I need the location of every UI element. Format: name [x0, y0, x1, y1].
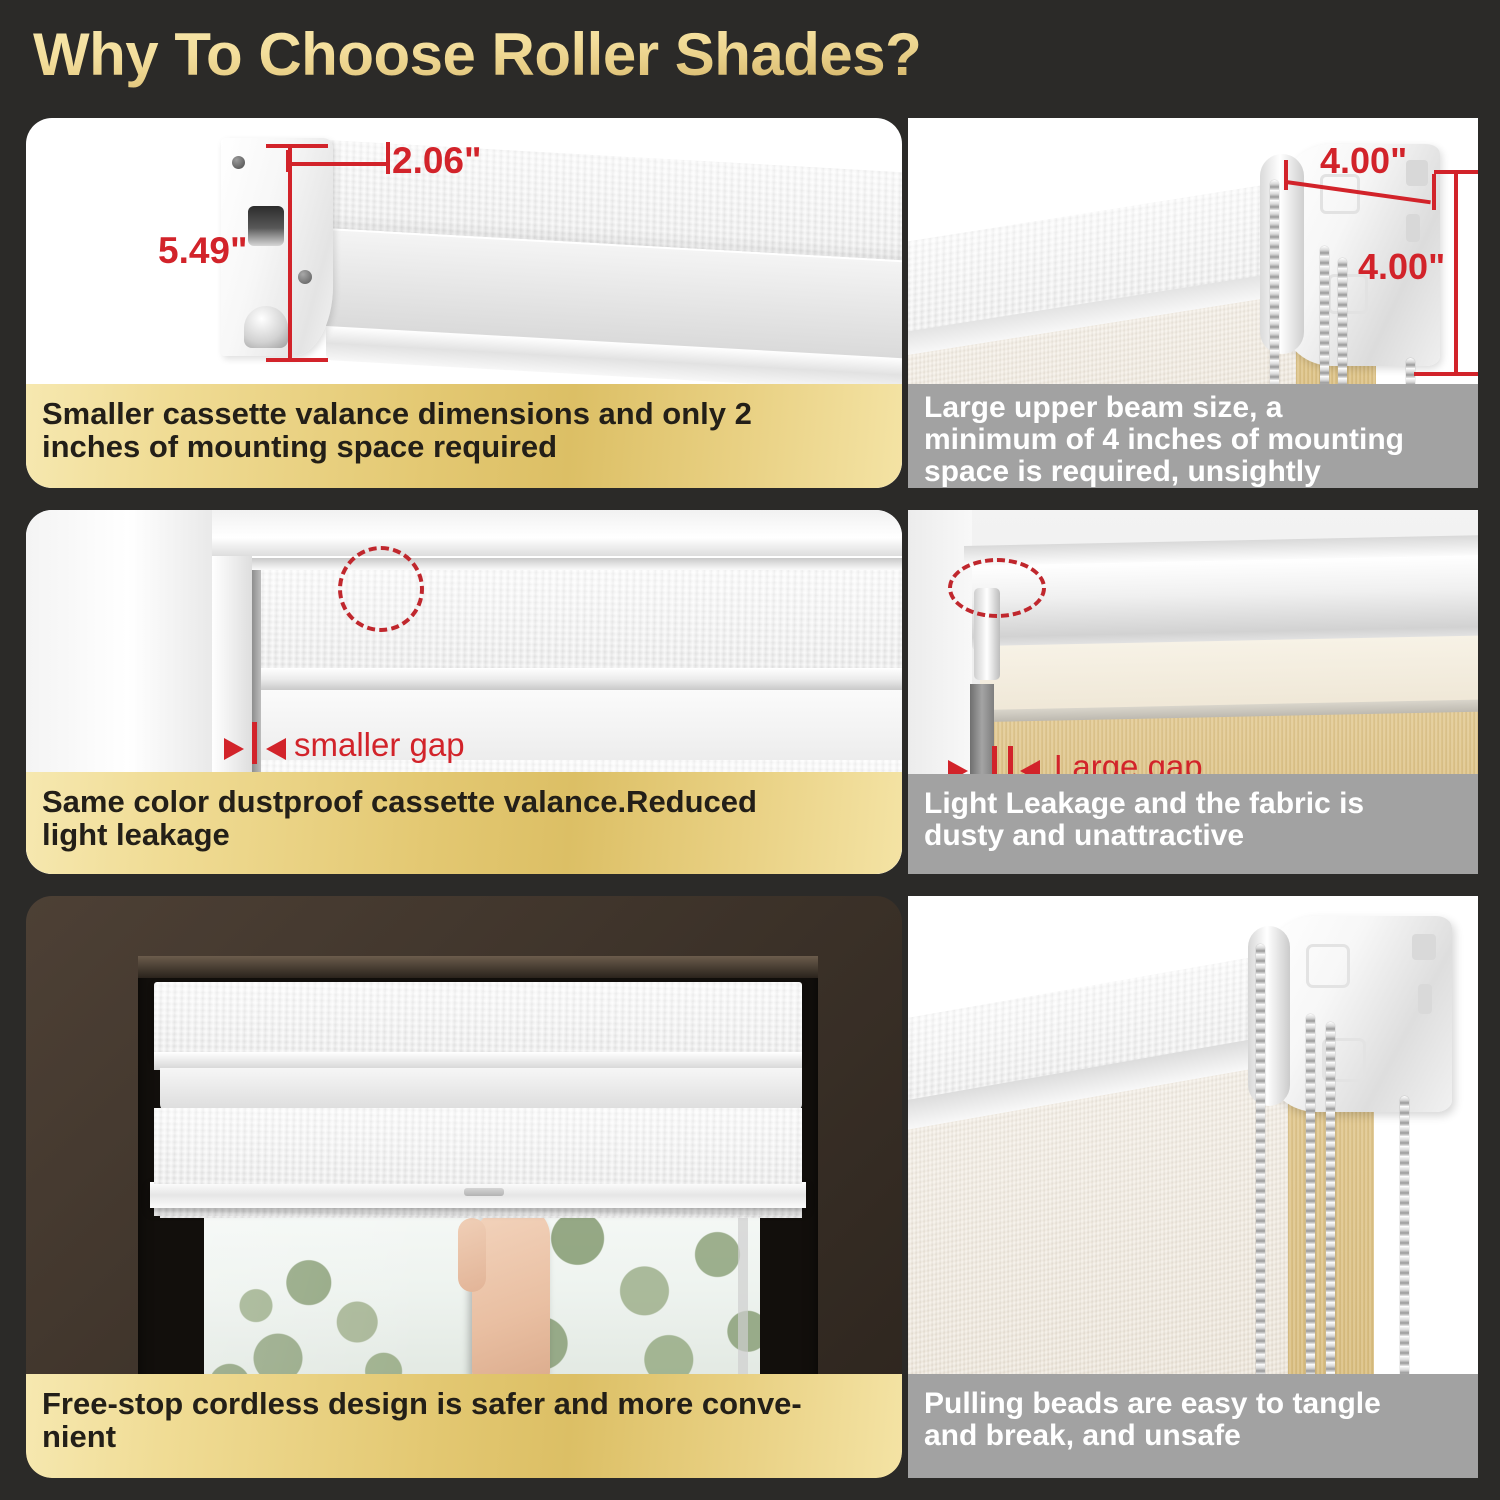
window-frame-top [212, 510, 902, 556]
caption-con-beam-size: Large upper beam size, a minimum of 4 in… [908, 384, 1478, 488]
caption-line-2: minimum of 4 inches of mounting [924, 424, 1404, 456]
bracket-slot-2 [1418, 984, 1432, 1014]
panel-pro-dustproof-valance: smaller gap Same color dustproof cassett… [26, 510, 902, 874]
dim-beam-height-tick-top [1434, 170, 1478, 174]
caption-pro-cassette-size: Smaller cassette valance dimensions and … [26, 384, 902, 488]
caption-con-pulling-beads: Pulling beads are easy to tangle and bre… [908, 1374, 1478, 1478]
cap-screw-mid [298, 270, 312, 284]
panel-con-light-leakage: Large gap Light Leakage and the fabric i… [908, 510, 1478, 874]
caption-line-1: Pulling beads are easy to tangle [924, 1388, 1381, 1420]
dim-beam-height-tick-bottom [1414, 372, 1478, 376]
panel-pro-cassette-size: 2.06" 5.49" Smaller cassette valance dim… [26, 118, 902, 488]
caption-line-2: and break, and unsafe [924, 1420, 1381, 1452]
window-mullion [738, 1194, 748, 1404]
gap-arrow-right [266, 738, 286, 760]
dim-height-tick-bottom [266, 358, 328, 362]
valance-ledge [252, 668, 902, 690]
caption-pro-cordless-design: Free-stop cordless design is safer and m… [26, 1374, 902, 1478]
dim-width-line [286, 162, 390, 166]
highlight-circle [948, 558, 1046, 618]
highlight-circle [338, 546, 424, 632]
dim-beam-width-tick-left [1284, 160, 1288, 190]
caption-con-light-leakage: Light Leakage and the fabric is dusty an… [908, 774, 1478, 874]
panel-con-beam-size: 4.00" 4.00" Large upper beam size, a min… [908, 118, 1478, 488]
dim-height-line [288, 144, 292, 362]
cap-roller-knob [244, 306, 288, 348]
caption-line-1: Free-stop cordless design is safer and m… [42, 1388, 802, 1421]
roller-tube [972, 555, 1478, 650]
window-reveal-top-trim [138, 956, 818, 978]
caption-line-1: Light Leakage and the fabric is [924, 788, 1364, 820]
caption-line-1: Large upper beam size, a [924, 392, 1404, 424]
gap-arrow-left [224, 738, 244, 760]
dim-beam-width-label: 4.00" [1320, 140, 1407, 182]
dim-width-label: 2.06" [392, 140, 482, 182]
cassette-valance [154, 982, 802, 1058]
roller-end-disc [1248, 926, 1290, 1106]
caption-line-2: nient [42, 1421, 802, 1454]
dim-beam-height-label: 4.00" [1358, 246, 1445, 288]
cassette-roll [160, 1068, 802, 1112]
bottom-rail-grip [464, 1188, 504, 1196]
caption-line-2: inches of mounting space required [42, 431, 752, 464]
cap-screw-top [232, 156, 245, 169]
hand-thumb [458, 1218, 486, 1292]
panel-pro-cordless-design: Free-stop cordless design is safer and m… [26, 896, 902, 1478]
shade-fabric-fill [154, 1108, 802, 1184]
dim-beam-height-line [1454, 170, 1458, 376]
bracket-emblem-upper [1306, 944, 1350, 988]
gap-tick [252, 722, 257, 764]
caption-line-2: light leakage [42, 819, 757, 852]
dim-beam-width-tick-right [1432, 174, 1436, 210]
dim-height-tick-top [266, 144, 328, 148]
caption-line-1: Same color dustproof cassette valance.Re… [42, 786, 757, 819]
caption-line-1: Smaller cassette valance dimensions and … [42, 398, 752, 431]
page-title: Why To Choose Roller Shades? [33, 20, 921, 89]
bracket-slot-1 [1406, 160, 1428, 186]
caption-line-2: dusty and unattractive [924, 820, 1364, 852]
dim-width-tick-right [386, 142, 390, 174]
caption-pro-dustproof-valance: Same color dustproof cassette valance.Re… [26, 772, 902, 874]
caption-line-3: space is required, unsightly [924, 456, 1404, 488]
dim-height-label: 5.49" [158, 230, 248, 272]
panel-con-pulling-beads: Pulling beads are easy to tangle and bre… [908, 896, 1478, 1478]
bracket-slot-1 [1412, 934, 1436, 960]
bracket-slot-2 [1406, 214, 1420, 242]
gap-label-smaller: smaller gap [294, 726, 465, 764]
cap-slot-upper [248, 206, 284, 246]
